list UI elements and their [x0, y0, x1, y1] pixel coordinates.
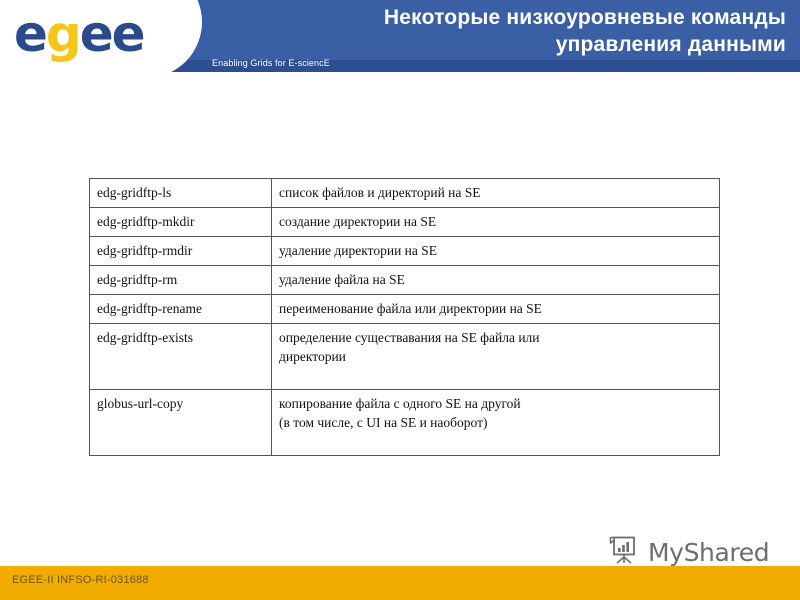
- egee-logo-char-3: e: [80, 5, 112, 63]
- egee-tagline: Enabling Grids for E-sciencE: [212, 58, 330, 68]
- description-line: определение существавания на SE файла ил…: [279, 328, 712, 347]
- description-line: удаление файла на SE: [279, 270, 712, 289]
- table-row: edg-gridftp-rename переименование файла …: [90, 295, 720, 324]
- description-line: список файлов и директорий на SE: [279, 183, 712, 202]
- table-cell-description: удаление директории на SE: [272, 237, 720, 266]
- table-cell-command: edg-gridftp-mkdir: [90, 208, 272, 237]
- page-title-line-2: управления данными: [226, 31, 786, 58]
- table-row: edg-gridftp-rm удаление файла на SE: [90, 266, 720, 295]
- table-cell-description: список файлов и директорий на SE: [272, 179, 720, 208]
- table-row: edg-gridftp-mkdir создание директории на…: [90, 208, 720, 237]
- slide-footer: EGEE-II INFSO-RI-031688: [0, 566, 800, 600]
- table-row: edg-gridftp-ls список файлов и директори…: [90, 179, 720, 208]
- page-title: Некоторые низкоуровневые команды управле…: [226, 4, 786, 58]
- table-row: globus-url-copy копирование файла с одно…: [90, 390, 720, 456]
- description-line: удаление директории на SE: [279, 241, 712, 260]
- description-line: копирование файла с одного SE на другой: [279, 394, 712, 413]
- commands-table-container: edg-gridftp-ls список файлов и директори…: [89, 178, 689, 456]
- egee-logo-char-2: g: [46, 5, 80, 63]
- description-line: директории: [279, 347, 712, 366]
- table-cell-description: создание директории на SE: [272, 208, 720, 237]
- egee-logo-char-4: e: [112, 5, 144, 63]
- table-cell-command: edg-gridftp-exists: [90, 324, 272, 390]
- commands-table: edg-gridftp-ls список файлов и директори…: [89, 178, 720, 456]
- footer-project-code: EGEE-II INFSO-RI-031688: [12, 574, 149, 586]
- egee-logo: egee: [14, 6, 144, 62]
- egee-logo-char-1: e: [14, 5, 46, 63]
- table-cell-description: переименование файла или директории на S…: [272, 295, 720, 324]
- table-cell-command: globus-url-copy: [90, 390, 272, 456]
- description-line: переименование файла или директории на S…: [279, 299, 712, 318]
- table-cell-command: edg-gridftp-ls: [90, 179, 272, 208]
- table-row: edg-gridftp-rmdir удаление директории на…: [90, 237, 720, 266]
- table-cell-description: копирование файла с одного SE на другой …: [272, 390, 720, 456]
- description-line: (в том числе, с UI на SE и наоборот): [279, 413, 712, 432]
- table-cell-command: edg-gridftp-rmdir: [90, 237, 272, 266]
- description-line: создание директории на SE: [279, 212, 712, 231]
- page-title-line-1: Некоторые низкоуровневые команды: [226, 4, 786, 31]
- commands-table-body: edg-gridftp-ls список файлов и директори…: [90, 179, 720, 456]
- table-cell-command: edg-gridftp-rename: [90, 295, 272, 324]
- table-cell-command: edg-gridftp-rm: [90, 266, 272, 295]
- table-cell-description: удаление файла на SE: [272, 266, 720, 295]
- myshared-label: MyShared: [648, 539, 769, 567]
- table-cell-description: определение существавания на SE файла ил…: [272, 324, 720, 390]
- table-row: edg-gridftp-exists определение существав…: [90, 324, 720, 390]
- slide-header: egee Enabling Grids for E-sciencE Некото…: [0, 0, 800, 72]
